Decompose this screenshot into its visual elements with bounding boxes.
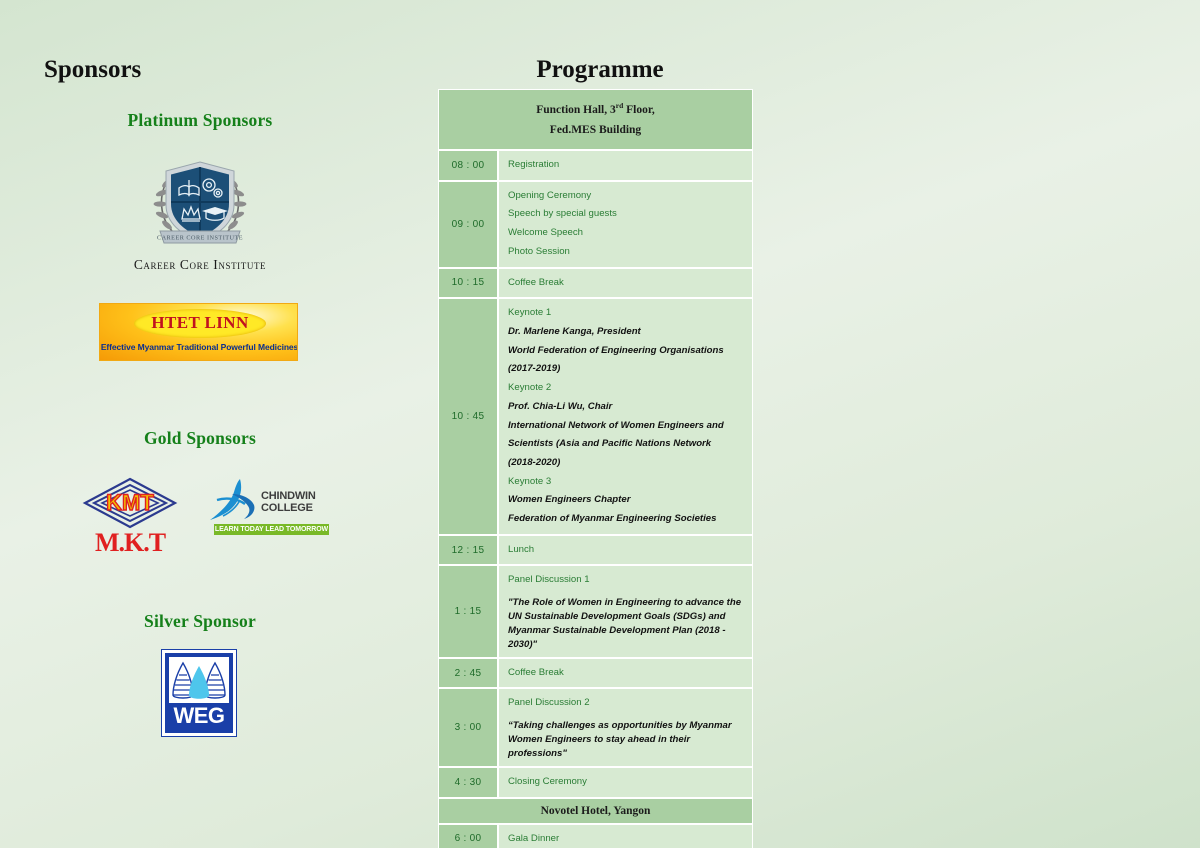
row-item: Keynote 2	[508, 379, 743, 398]
row-item: Dr. Marlene Kanga, President	[508, 323, 743, 342]
row-time: 09 : 00	[438, 181, 498, 268]
table-row: 10 : 45 Keynote 1 Dr. Marlene Kanga, Pre…	[438, 298, 753, 534]
programme-column: Programme Function Hall, 3rd Floor, Fed.…	[420, 0, 780, 848]
row-content: Registration	[498, 150, 753, 181]
title-column: FEDERATION OF MYANMAR ENGINEERING SOCIET…	[780, 0, 1200, 848]
row-time: 12 : 15	[438, 535, 498, 566]
row-item: Lunch	[508, 541, 743, 560]
chindwin-tagline: LEARN TODAY LEAD TOMORROW	[214, 524, 329, 535]
chindwin-swoosh-icon	[207, 478, 267, 524]
row-item: Welcome Speech	[508, 224, 743, 243]
tier-platinum-label: Platinum Sponsors	[0, 110, 400, 131]
mkt-name: M.K.T	[82, 530, 178, 556]
table-row: 10 : 15 Coffee Break	[438, 268, 753, 299]
row-item: Keynote 1	[508, 304, 743, 323]
row-content: Closing Ceremony	[498, 767, 753, 798]
row-item: Closing Ceremony	[508, 773, 743, 792]
mkt-diamond: KMT	[82, 476, 178, 530]
row-item-quote: “Taking challenges as opportunities by M…	[508, 719, 743, 761]
career-core-institute-name: Career Core Institute	[60, 257, 340, 273]
tier-silver-label: Silver Sponsor	[0, 611, 400, 632]
row-content: Keynote 1 Dr. Marlene Kanga, President W…	[498, 298, 753, 534]
row-item: World Federation of Engineering Organisa…	[508, 342, 743, 361]
programme-table-body: Function Hall, 3rd Floor, Fed.MES Buildi…	[438, 89, 753, 848]
programme-table: Function Hall, 3rd Floor, Fed.MES Buildi…	[438, 89, 753, 848]
dinner-venue-cell: Novotel Hotel, Yangon	[438, 798, 753, 824]
mkt-logo: KMT M.K.T	[82, 476, 178, 556]
row-item: Scientists (Asia and Pacific Nations Net…	[508, 435, 743, 454]
chindwin-name-line2: COLLEGE	[261, 502, 316, 514]
venue-header-line1-post: Floor,	[623, 104, 655, 116]
row-item: Panel Discussion 1	[508, 571, 743, 590]
row-time: 6 : 00	[438, 824, 498, 848]
row-item: Keynote 3	[508, 473, 743, 492]
row-item: Speech by special guests	[508, 205, 743, 224]
row-item: Federation of Myanmar Engineering Societ…	[508, 510, 743, 529]
row-time: 10 : 45	[438, 298, 498, 534]
shield-icon: CAREER CORE INSTITUTE	[146, 147, 254, 255]
row-item: Women Engineers Chapter	[508, 491, 743, 510]
row-time: 1 : 15	[438, 565, 498, 657]
programme-heading: Programme	[420, 56, 780, 84]
row-time: 2 : 45	[438, 658, 498, 689]
table-row: 12 : 15 Lunch	[438, 535, 753, 566]
row-item: Panel Discussion 2	[508, 694, 743, 713]
row-content: Coffee Break	[498, 268, 753, 299]
row-item: Gala Dinner	[508, 830, 743, 848]
venue-header-line1-pre: Function Hall, 3	[536, 104, 616, 116]
chindwin-college-logo: CHINDWIN COLLEGE LEARN TODAY LEAD TOMORR…	[207, 478, 329, 529]
table-venue-row: Novotel Hotel, Yangon	[438, 798, 753, 824]
table-header-row: Function Hall, 3rd Floor, Fed.MES Buildi…	[438, 89, 753, 150]
weg-logo: WEG	[162, 650, 236, 736]
row-time: 08 : 00	[438, 150, 498, 181]
row-time: 4 : 30	[438, 767, 498, 798]
table-row: 4 : 30 Closing Ceremony	[438, 767, 753, 798]
venue-header-line2: Fed.MES Building	[550, 124, 641, 136]
tier-gold-label: Gold Sponsors	[0, 428, 400, 449]
row-item: International Network of Women Engineers…	[508, 417, 743, 436]
venue-header-cell: Function Hall, 3rd Floor, Fed.MES Buildi…	[438, 89, 753, 150]
table-row: 09 : 00 Opening Ceremony Speech by speci…	[438, 181, 753, 268]
chindwin-name-line1: CHINDWIN	[261, 490, 316, 502]
row-item: Registration	[508, 156, 743, 175]
row-item: Prof. Chia-Li Wu, Chair	[508, 398, 743, 417]
mkt-diamond-icon: KMT	[82, 476, 178, 530]
table-row: 6 : 00 Gala Dinner	[438, 824, 753, 848]
htet-linn-logo: HTET LINN Effective Myanmar Traditional …	[99, 303, 298, 361]
table-row: 3 : 00 Panel Discussion 2 “Taking challe…	[438, 688, 753, 766]
row-content: Panel Discussion 2 “Taking challenges as…	[498, 688, 753, 766]
row-item-quote: "The Role of Women in Engineering to adv…	[508, 596, 743, 652]
mkt-monogram: KMT	[106, 490, 154, 515]
htet-linn-tagline: Effective Myanmar Traditional Powerful M…	[100, 342, 298, 352]
row-content: Lunch	[498, 535, 753, 566]
row-item: (2018-2020)	[508, 454, 743, 473]
row-time: 10 : 15	[438, 268, 498, 299]
row-content: Gala Dinner	[498, 824, 753, 848]
row-content: Opening Ceremony Speech by special guest…	[498, 181, 753, 268]
table-row: 08 : 00 Registration	[438, 150, 753, 181]
shield-ribbon-text: CAREER CORE INSTITUTE	[157, 235, 243, 242]
sponsors-heading: Sponsors	[44, 56, 141, 84]
row-item: Coffee Break	[508, 664, 743, 683]
htet-linn-name: HTET LINN	[134, 313, 266, 333]
row-content: Coffee Break	[498, 658, 753, 689]
brochure-page: Sponsors Platinum Sponsors	[0, 0, 1200, 848]
row-item: (2017-2019)	[508, 360, 743, 379]
table-row: 1 : 15 Panel Discussion 1 "The Role of W…	[438, 565, 753, 657]
row-content: Panel Discussion 1 "The Role of Women in…	[498, 565, 753, 657]
career-core-institute-logo: CAREER CORE INSTITUTE	[146, 147, 254, 260]
weg-name: WEG	[165, 703, 233, 729]
row-time: 3 : 00	[438, 688, 498, 766]
sponsors-column: Sponsors Platinum Sponsors	[0, 0, 420, 848]
table-row: 2 : 45 Coffee Break	[438, 658, 753, 689]
row-item: Photo Session	[508, 243, 743, 262]
chindwin-college-name: CHINDWIN COLLEGE	[261, 490, 316, 515]
row-item: Coffee Break	[508, 274, 743, 293]
row-item: Opening Ceremony	[508, 187, 743, 206]
